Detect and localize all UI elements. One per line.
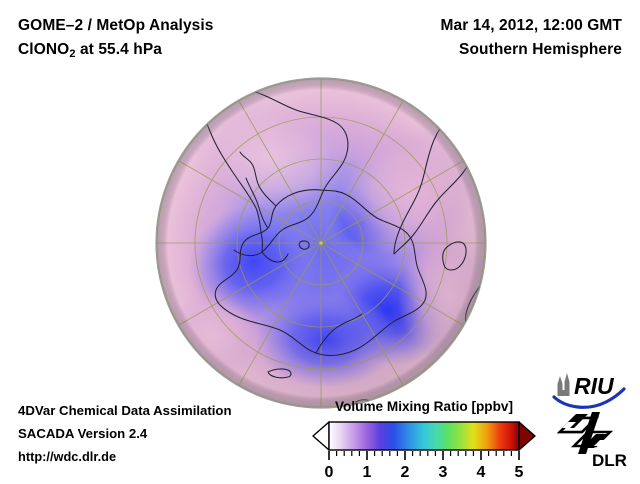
colorbar-ticks xyxy=(329,451,519,460)
colorbar-tick-4: 4 xyxy=(477,464,486,481)
logos-svg: RIU DLR xyxy=(548,366,636,474)
colorbar-tick-3: 3 xyxy=(439,464,448,481)
figure-title: GOME–2 / MetOp Analysis xyxy=(18,14,214,38)
colorbar-high-arrow xyxy=(519,422,535,450)
colorbar-low-arrow xyxy=(313,422,329,450)
species-prefix: ClONO xyxy=(18,41,69,58)
header-right: Mar 14, 2012, 12:00 GMT Southern Hemisph… xyxy=(440,14,622,62)
cathedral-icon xyxy=(558,373,570,396)
footer-line-method: 4DVar Chemical Data Assimilation xyxy=(18,399,232,422)
region-label: Southern Hemisphere xyxy=(440,38,622,62)
species-suffix: at 55.4 hPa xyxy=(76,41,163,58)
colorbar-tick-labels: 0 1 2 3 4 5 xyxy=(325,464,524,481)
figure-canvas: GOME–2 / MetOp Analysis ClONO2 at 55.4 h… xyxy=(0,0,640,480)
globe-svg xyxy=(150,72,492,414)
colorbar-tick-2: 2 xyxy=(401,464,410,481)
logo-group: RIU DLR xyxy=(548,366,636,474)
coast-tasmania xyxy=(468,347,478,357)
header-left: GOME–2 / MetOp Analysis ClONO2 at 55.4 h… xyxy=(18,14,214,66)
colorbar-title: Volume Mixing Ratio [ppbv] xyxy=(311,398,537,416)
colorbar: Volume Mixing Ratio [ppbv] xyxy=(311,398,537,484)
dlr-mark-icon xyxy=(560,412,610,454)
colorbar-tick-1: 1 xyxy=(363,464,372,481)
colorbar-svg[interactable]: 0 1 2 3 4 5 xyxy=(311,420,537,484)
riu-logo[interactable]: RIU xyxy=(554,373,624,407)
south-pole-marker xyxy=(319,241,322,244)
species-title: ClONO2 at 55.4 hPa xyxy=(18,38,214,66)
colorbar-tick-0: 0 xyxy=(325,464,334,481)
riu-wordmark: RIU xyxy=(574,373,615,399)
colorbar-tick-5: 5 xyxy=(515,464,524,481)
dlr-logo[interactable]: DLR xyxy=(560,412,627,470)
footer-text: 4DVar Chemical Data Assimilation SACADA … xyxy=(18,399,232,468)
datetime-label: Mar 14, 2012, 12:00 GMT xyxy=(440,14,622,38)
polar-map xyxy=(150,72,492,414)
footer-line-url[interactable]: http://wdc.dlr.de xyxy=(18,445,232,468)
footer-line-version: SACADA Version 2.4 xyxy=(18,422,232,445)
colorbar-gradient xyxy=(329,422,519,450)
dlr-wordmark: DLR xyxy=(592,451,627,470)
